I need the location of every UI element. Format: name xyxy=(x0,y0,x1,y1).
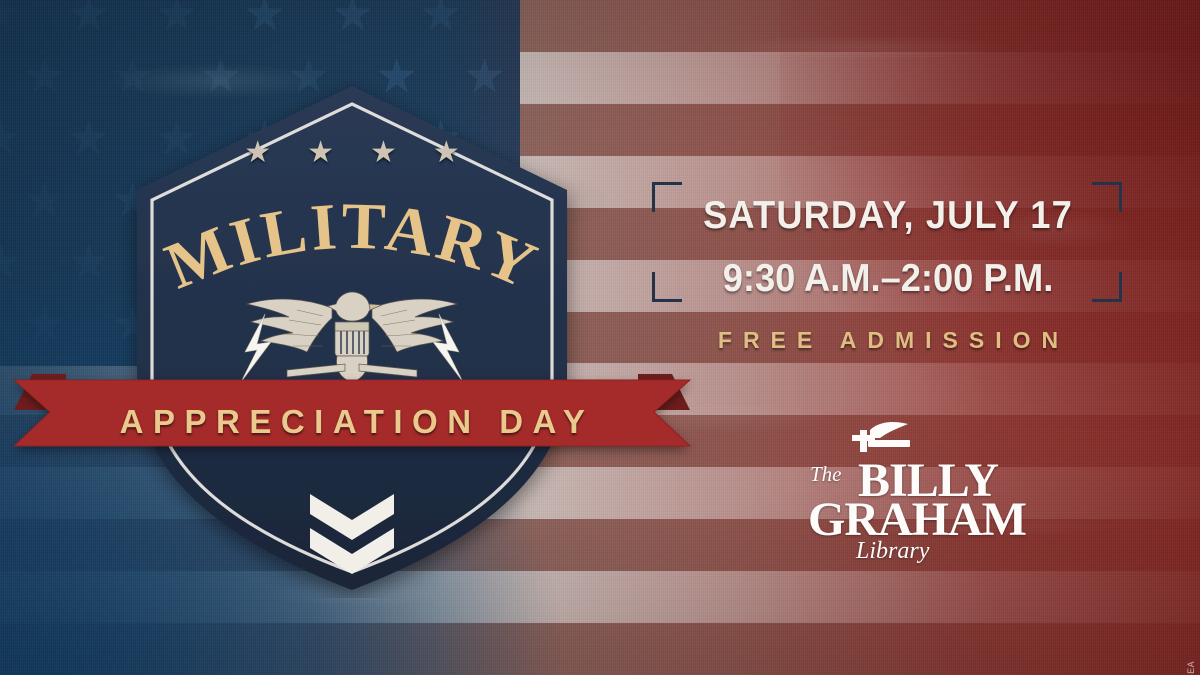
badge-star: ★ xyxy=(370,138,397,168)
copyright-notice: ©2021 BGEA xyxy=(1186,661,1196,675)
event-date: SATURDAY, JULY 17 xyxy=(656,194,1121,238)
logo-the-text: The xyxy=(810,462,842,487)
appreciation-ribbon: APPRECIATION DAY xyxy=(14,368,690,476)
billy-graham-library-logo[interactable]: The BILLY GRAHAM Library xyxy=(800,420,1010,565)
military-badge: ★★★★ MILITARY xyxy=(112,78,592,598)
logo-library-text: Library xyxy=(856,538,929,565)
chevron-rank-icon xyxy=(306,488,398,578)
badge-stars: ★★★★ xyxy=(112,138,592,168)
badge-star: ★ xyxy=(307,138,334,168)
admission-note: FREE ADMISSION xyxy=(638,327,1138,354)
badge-star: ★ xyxy=(244,138,271,168)
event-time: 9:30 A.M.–2:00 P.M. xyxy=(656,257,1121,301)
ribbon-text: APPRECIATION DAY xyxy=(120,403,595,441)
event-info-block: SATURDAY, JULY 17 9:30 A.M.–2:00 P.M. FR… xyxy=(638,172,1138,372)
barn-cross-icon xyxy=(848,420,918,456)
poster-canvas: ★★★★★★★★★★★★★★★★★★★★★★★★★★★★★★★★★★★★ xyxy=(0,0,1200,675)
badge-star: ★ xyxy=(433,138,460,168)
